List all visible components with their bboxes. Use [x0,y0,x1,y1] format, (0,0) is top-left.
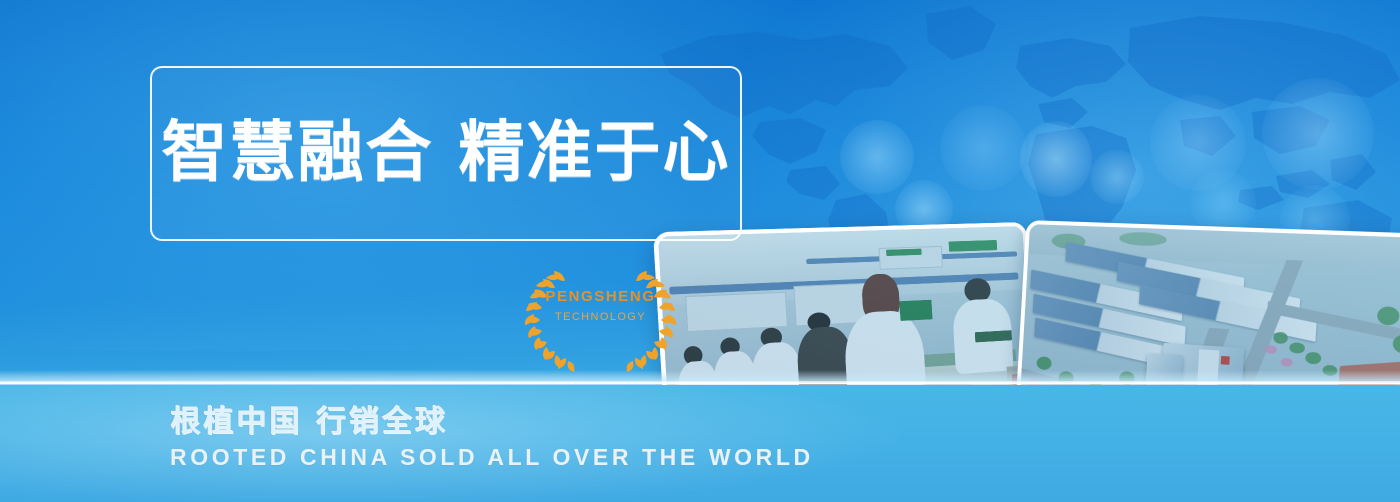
laurel-wreath-icon [518,262,683,372]
tagline-english: ROOTED CHINA SOLD ALL OVER THE WORLD [170,444,814,471]
laurel-badge: PENGSHENG TECHNOLOGY [518,262,683,372]
headline-frame: 智慧融合 精准于心 [150,66,742,241]
lower-band-glow [0,370,910,502]
headline-text: 智慧融合 精准于心 [152,119,740,185]
tagline-chinese: 根植中国 行销全球 [170,396,447,440]
promotional-banner: 智慧融合 精准于心 [0,0,1400,502]
horizontal-white-divider [0,381,1400,385]
